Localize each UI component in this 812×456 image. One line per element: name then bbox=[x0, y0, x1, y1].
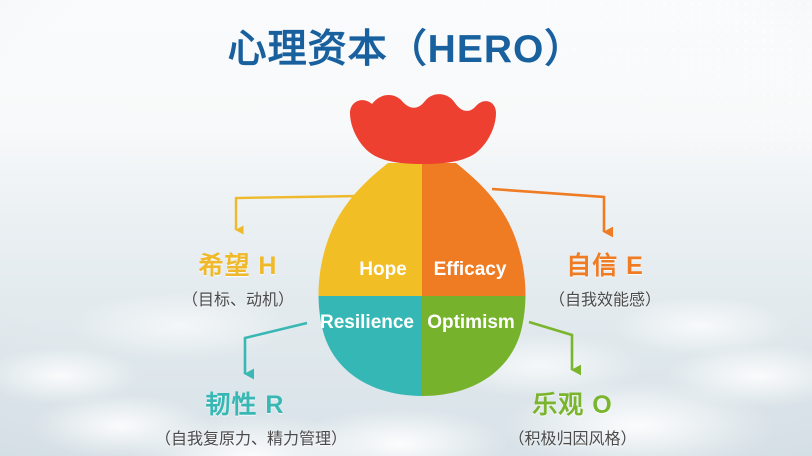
efficacy-label-sub: （自我效能感） bbox=[545, 286, 665, 310]
resilience-connector bbox=[245, 323, 307, 374]
quadrant-label-resilience: Resilience bbox=[320, 312, 414, 333]
hope-label-sub: （目标、动机） bbox=[178, 286, 298, 310]
resilience-label-sub: （自我复原力、精力管理） bbox=[155, 425, 335, 449]
optimism-connector bbox=[529, 322, 572, 370]
quadrant-label-hope: Hope bbox=[359, 259, 407, 280]
optimism-label-main: 乐观 O bbox=[532, 391, 612, 419]
slide-canvas: 心理资本（HERO） bbox=[0, 0, 812, 456]
quadrant-label-optimism: Optimism bbox=[427, 312, 515, 333]
hope-label-main: 希望 H bbox=[198, 252, 277, 280]
optimism-label-sub: （积极归因风格） bbox=[490, 425, 655, 449]
bag-tie-knot bbox=[350, 94, 496, 164]
hero-bag-graphic: Hope Efficacy Resilience Optimism bbox=[0, 0, 812, 456]
quadrant-label-efficacy: Efficacy bbox=[434, 259, 507, 280]
efficacy-label[interactable]: 自信 E （自我效能感） bbox=[545, 246, 665, 310]
efficacy-label-main: 自信 E bbox=[566, 252, 644, 280]
resilience-label[interactable]: 韧性 R （自我复原力、精力管理） bbox=[155, 385, 335, 449]
resilience-label-main: 韧性 R bbox=[205, 391, 284, 419]
hope-label[interactable]: 希望 H （目标、动机） bbox=[178, 246, 298, 310]
bag-body bbox=[300, 150, 547, 406]
optimism-label[interactable]: 乐观 O （积极归因风格） bbox=[490, 385, 655, 449]
